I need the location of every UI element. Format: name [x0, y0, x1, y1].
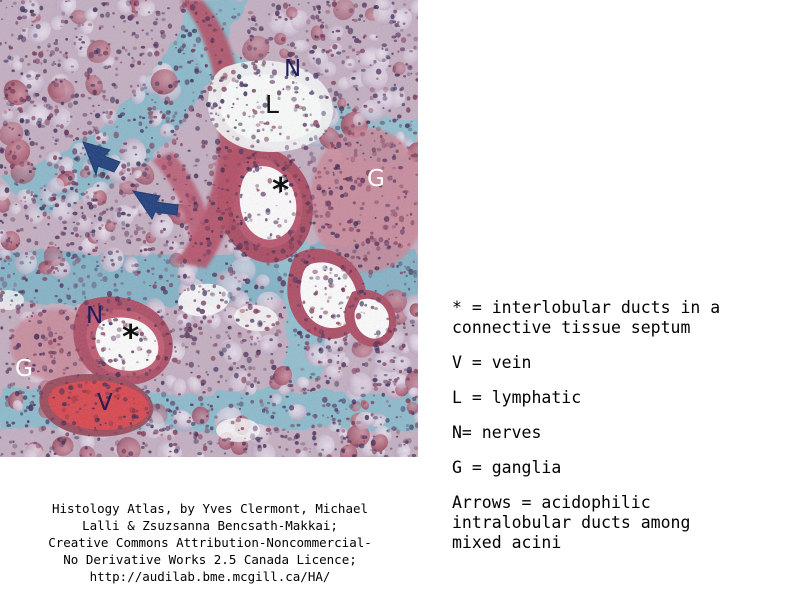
- legend-lymphatic: L = lymphatic: [452, 388, 792, 408]
- label-asterisk-lower: *: [122, 325, 139, 350]
- histology-micrograph: NLG*N*GV: [0, 0, 418, 457]
- caption-line-4: No Derivative Works 2.5 Canada Licence;: [0, 551, 420, 568]
- label-L: L: [265, 92, 279, 117]
- legend-asterisk: * = interlobular ducts in aconnective ti…: [452, 298, 792, 338]
- caption-line-2: Lalli & Zsuzsanna Bencsath-Makkai;: [0, 517, 420, 534]
- legend-nerves-line-1: N= nerves: [452, 423, 792, 443]
- legend-nerves: N= nerves: [452, 423, 792, 443]
- label-asterisk-upper: *: [272, 178, 289, 203]
- legend-arrows-line-1: Arrows = acidophilic: [452, 493, 792, 513]
- legend-asterisk-line-2: connective tissue septum: [452, 318, 792, 338]
- legend-lymphatic-line-1: L = lymphatic: [452, 388, 792, 408]
- label-V: V: [97, 392, 113, 415]
- label-G-upper: G: [367, 168, 385, 191]
- image-caption: Histology Atlas, by Yves Clermont, Micha…: [0, 500, 420, 585]
- label-G-lower: G: [15, 358, 33, 381]
- legend-arrows-line-2: intralobular ducts among: [452, 513, 792, 533]
- label-N-upper: N: [284, 58, 301, 81]
- caption-line-1: Histology Atlas, by Yves Clermont, Micha…: [0, 500, 420, 517]
- legend-ganglia-line-1: G = ganglia: [452, 458, 792, 478]
- legend-arrows-line-3: mixed acini: [452, 533, 792, 553]
- legend-vein-line-1: V = vein: [452, 353, 792, 373]
- caption-line-3: Creative Commons Attribution-Noncommerci…: [0, 534, 420, 551]
- legend-arrows: Arrows = acidophilicintralobular ducts a…: [452, 493, 792, 553]
- legend-vein: V = vein: [452, 353, 792, 373]
- legend-ganglia: G = ganglia: [452, 458, 792, 478]
- legend-asterisk-line-1: * = interlobular ducts in a: [452, 298, 792, 318]
- label-N-lower: N: [86, 305, 103, 328]
- caption-line-5: http://audilab.bme.mcgill.ca/HA/: [0, 568, 420, 585]
- micrograph-canvas: [0, 0, 418, 457]
- legend-key: * = interlobular ducts in aconnective ti…: [452, 298, 792, 553]
